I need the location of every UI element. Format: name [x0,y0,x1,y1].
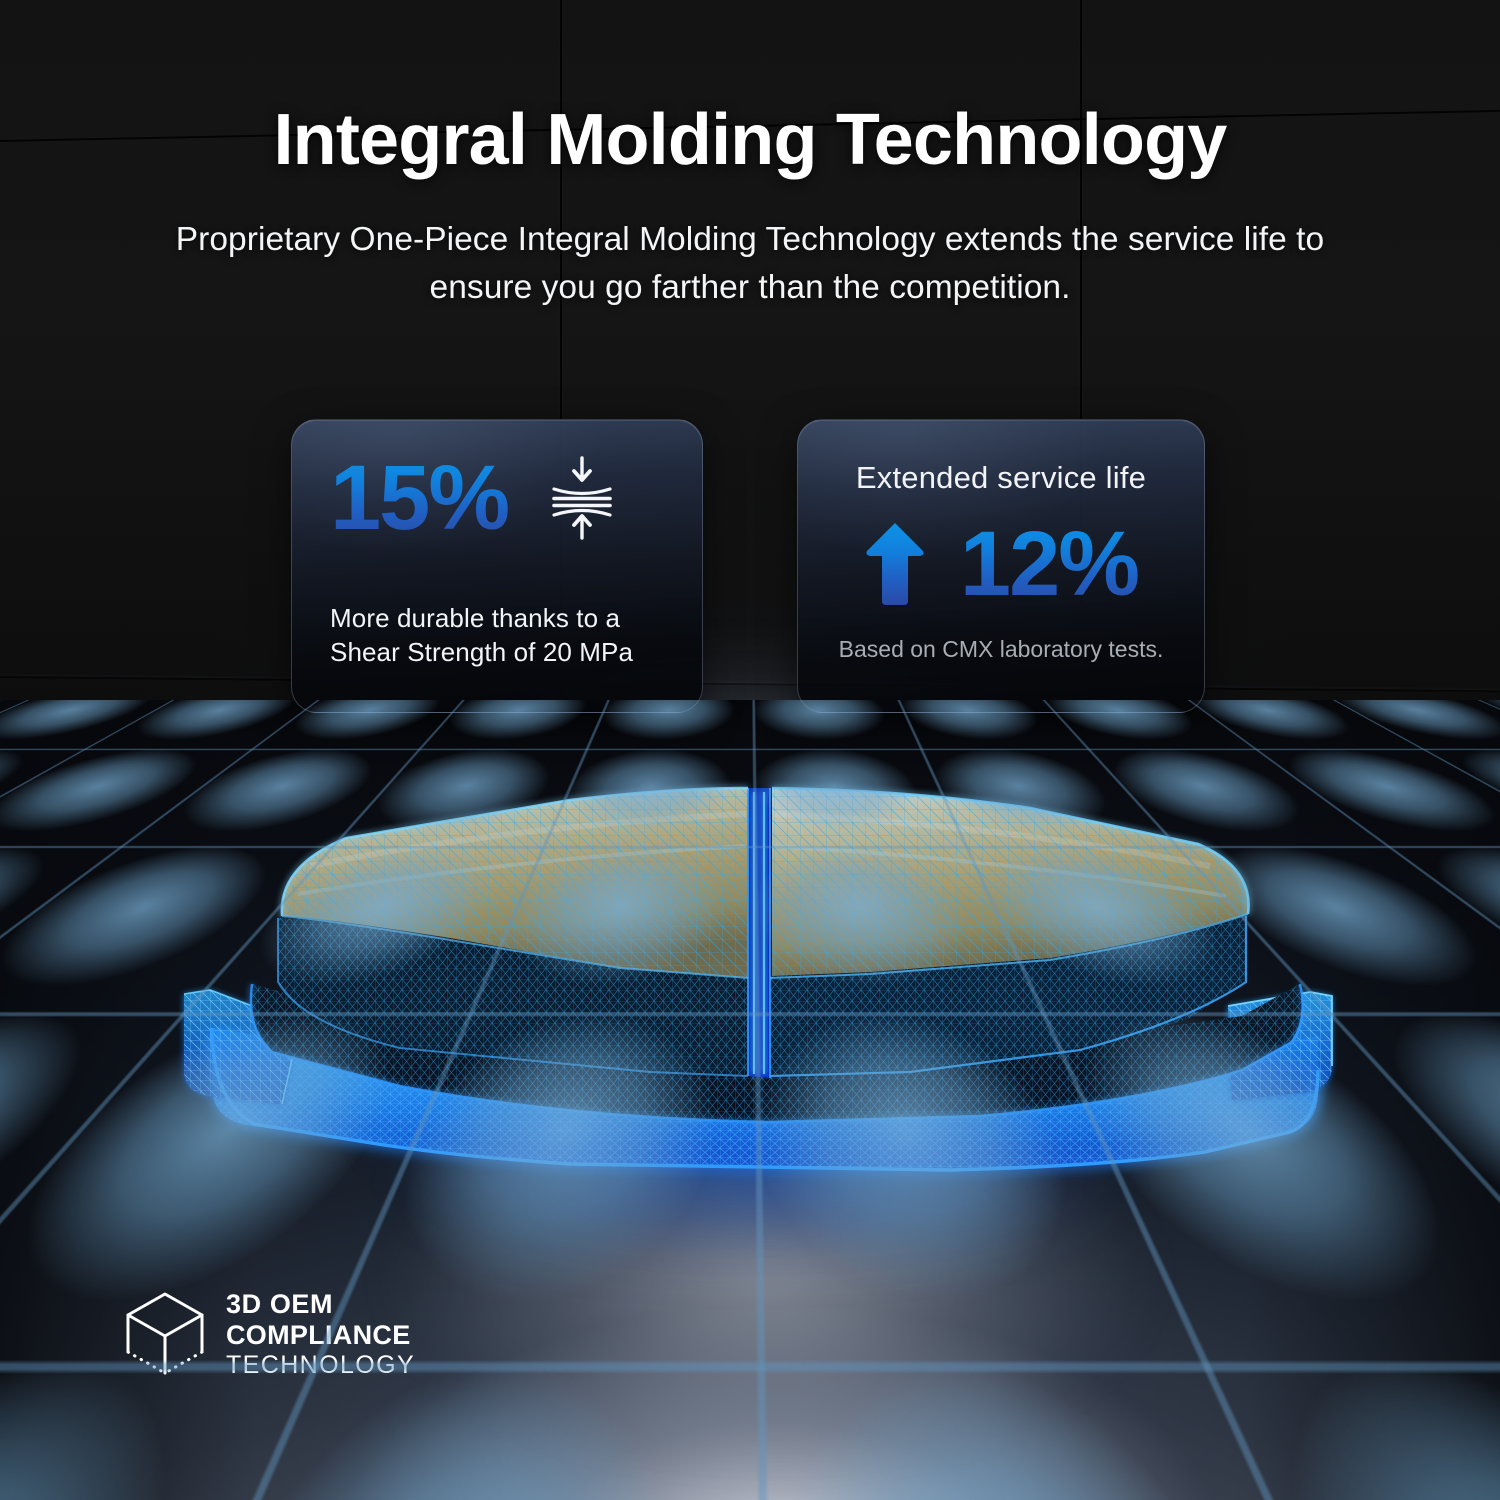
stat-card-durability[interactable]: 15% More durable thanks to a Shear Stren… [291,419,703,713]
durability-stat-row: 15% [330,452,614,544]
up-arrow-icon [864,521,926,607]
service-life-stat-row: 12% [798,520,1204,608]
service-life-footnote: Based on CMX laboratory tests. [798,636,1204,663]
wireframe-cube-icon [122,1288,208,1380]
durability-value: 15% [330,454,508,542]
service-life-value: 12% [960,520,1138,608]
page-subtitle: Proprietary One-Piece Integral Molding T… [128,216,1372,311]
brand-logo-line1: 3D OEM [226,1291,415,1318]
floor-surface [0,700,1500,1500]
brand-logo-line3: TECHNOLOGY [226,1353,415,1378]
service-life-heading: Extended service life [798,460,1204,496]
promo-graphic: Integral Molding Technology Proprietary … [0,0,1500,1500]
compression-icon [550,452,614,544]
durability-caption: More durable thanks to a Shear Strength … [330,602,670,670]
stat-card-service-life[interactable]: Extended service life 12% Based on [797,419,1205,713]
floor-side-vignette [0,700,1500,1500]
brand-logo-line2: COMPLIANCE [226,1322,415,1349]
brand-logo[interactable]: 3D OEM COMPLIANCE TECHNOLOGY [122,1288,415,1380]
page-title: Integral Molding Technology [0,104,1500,176]
brand-logo-text: 3D OEM COMPLIANCE TECHNOLOGY [226,1291,415,1378]
